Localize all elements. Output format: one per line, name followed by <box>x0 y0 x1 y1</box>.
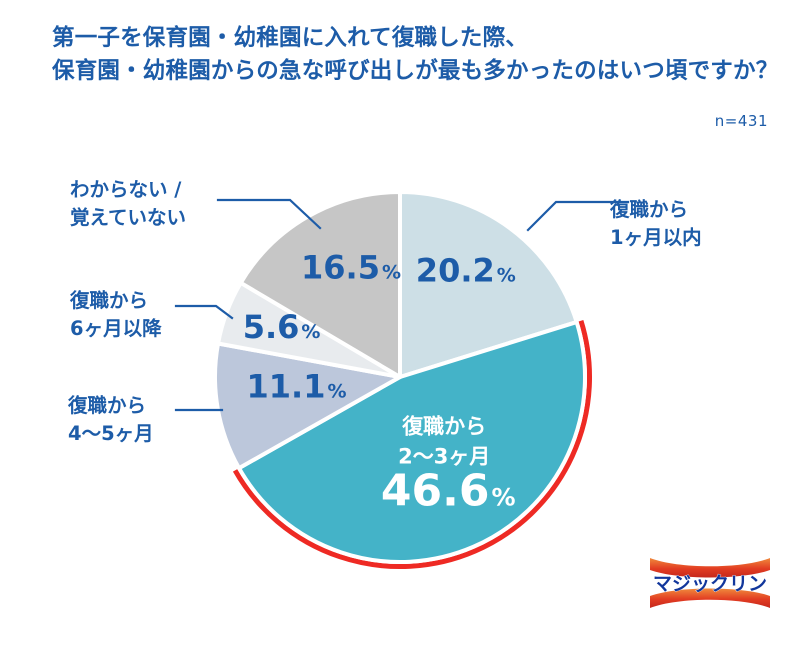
callout-label-within1: 復職から 1ヶ月以内 <box>610 196 702 251</box>
callout-label-after6: 復職から 6ヶ月以降 <box>70 287 162 342</box>
callout-within1-line1: 復職から <box>610 196 702 224</box>
brand-logo-magiclean: マジックリン <box>648 552 772 614</box>
callout-label-unknown: わからない / 覚えていない <box>70 176 186 231</box>
callout-after6-line2: 6ヶ月以降 <box>70 315 162 343</box>
callout-within1-line2: 1ヶ月以内 <box>610 224 702 252</box>
callout-unknown-line2: 覚えていない <box>70 204 186 232</box>
callout-m45-line1: 復職から <box>68 392 154 420</box>
callout-after6-line1: 復職から <box>70 287 162 315</box>
logo-text: マジックリン <box>653 573 767 595</box>
callout-unknown-line1: わからない / <box>70 176 186 204</box>
callout-m45-line2: 4〜5ヶ月 <box>68 420 154 448</box>
pie-inner-label-m23-line1: 復職から <box>401 414 486 438</box>
pie-inner-label-m23-line2: 2〜3ヶ月 <box>398 444 490 468</box>
callout-label-m45: 復職から 4〜5ヶ月 <box>68 392 154 447</box>
